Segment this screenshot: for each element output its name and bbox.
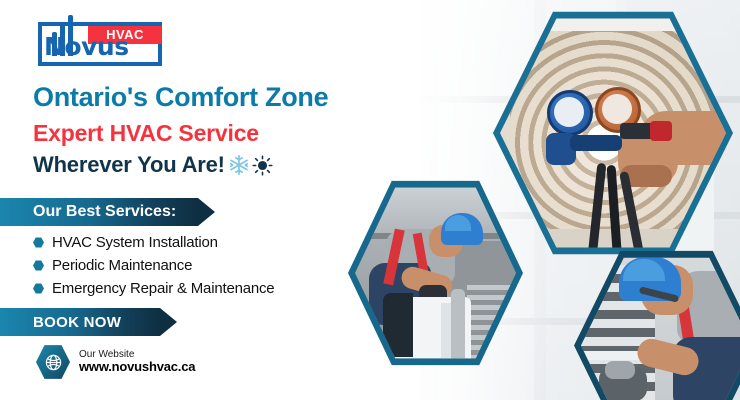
services-banner: Our Best Services:	[0, 198, 198, 226]
service-label: Periodic Maintenance	[52, 257, 192, 274]
novus-hvac-logo[interactable]: HVAC Novus	[34, 12, 166, 70]
service-label: Emergency Repair & Maintenance	[52, 280, 274, 297]
service-label: HVAC System Installation	[52, 234, 218, 251]
logo-wordmark: Novus	[44, 34, 129, 59]
headline-tertiary-text: Wherever You Are!	[33, 152, 225, 178]
globe-icon	[36, 344, 70, 380]
list-item: HVAC System Installation	[33, 232, 333, 253]
services-banner-label: Our Best Services:	[33, 203, 176, 221]
hvac-promo-banner: HVAC Novus Ontario's Comfort Zone Expert…	[0, 0, 740, 400]
weather-icons	[228, 154, 273, 176]
website-text: Our Website www.novushvac.ca	[79, 349, 195, 375]
book-now-label: BOOK NOW	[33, 314, 121, 331]
sun-icon	[252, 155, 273, 176]
services-list: HVAC System Installation Periodic Mainte…	[33, 232, 333, 301]
hexagon-bullet-icon	[33, 283, 44, 294]
headline-tertiary: Wherever You Are!	[33, 152, 273, 178]
list-item: Emergency Repair & Maintenance	[33, 278, 333, 299]
website-url[interactable]: www.novushvac.ca	[79, 360, 195, 375]
book-now-button[interactable]: BOOK NOW	[0, 308, 160, 336]
headline-primary: Ontario's Comfort Zone	[33, 82, 328, 113]
snowflake-icon	[228, 154, 250, 176]
headline-secondary: Expert HVAC Service	[33, 120, 259, 147]
hexagon-bullet-icon	[33, 237, 44, 248]
list-item: Periodic Maintenance	[33, 255, 333, 276]
hexagon-bullet-icon	[33, 260, 44, 271]
website-block[interactable]: Our Website www.novushvac.ca	[36, 344, 195, 380]
